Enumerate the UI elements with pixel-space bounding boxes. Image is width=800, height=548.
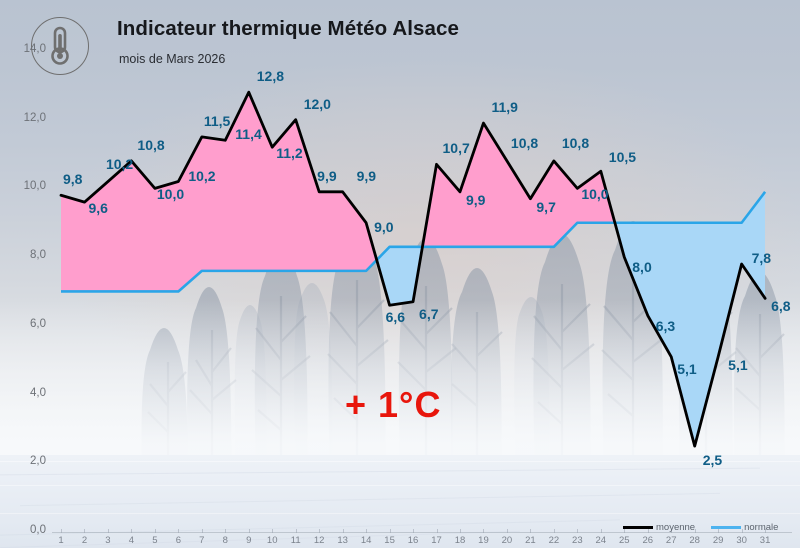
legend-swatch-moyenne: [623, 526, 653, 529]
legend-label-normale: normale: [744, 522, 778, 533]
data-point-label: 9,9: [357, 168, 376, 184]
anomaly-value: + 1°C: [345, 384, 441, 426]
data-point-label: 10,0: [157, 186, 184, 202]
data-point-label: 9,9: [317, 168, 336, 184]
data-point-label: 12,8: [257, 68, 284, 84]
data-point-label: 9,9: [466, 192, 485, 208]
data-point-label: 5,1: [728, 357, 747, 373]
data-point-label: 10,2: [106, 156, 133, 172]
data-point-label: 6,8: [771, 298, 790, 314]
data-point-label: 7,8: [752, 250, 771, 266]
weather-chart-screenshot: Indicateur thermique Météo Alsace mois d…: [0, 0, 800, 548]
legend-item-moyenne: moyenne: [623, 522, 695, 533]
legend-item-normale: normale: [711, 522, 778, 533]
data-point-label: 11,2: [276, 145, 302, 161]
data-point-label: 9,0: [374, 219, 393, 235]
data-point-label: 10,8: [137, 137, 164, 153]
data-point-label: 12,0: [304, 96, 331, 112]
data-point-label: 10,0: [581, 186, 608, 202]
data-point-label: 11,9: [491, 99, 517, 115]
data-point-label: 11,4: [235, 126, 261, 142]
data-point-label: 9,6: [88, 200, 107, 216]
data-point-label: 8,0: [632, 259, 651, 275]
data-point-label: 6,7: [419, 306, 438, 322]
data-point-label: 10,2: [188, 168, 215, 184]
data-point-label: 6,6: [386, 309, 405, 325]
data-point-label: 10,8: [562, 135, 589, 151]
legend-label-moyenne: moyenne: [656, 522, 695, 533]
data-point-label: 9,8: [63, 171, 82, 187]
data-point-label: 9,7: [536, 199, 555, 215]
data-point-label: 5,1: [677, 361, 696, 377]
chart-plot: [0, 0, 800, 548]
chart-legend: moyenne normale: [623, 521, 778, 534]
data-point-label: 6,3: [656, 318, 675, 334]
data-point-label: 10,5: [609, 149, 636, 165]
data-point-label: 11,5: [204, 113, 230, 129]
data-point-label: 2,5: [703, 452, 722, 468]
data-point-label: 10,8: [511, 135, 538, 151]
legend-swatch-normale: [711, 526, 741, 529]
data-point-label: 10,7: [443, 140, 470, 156]
